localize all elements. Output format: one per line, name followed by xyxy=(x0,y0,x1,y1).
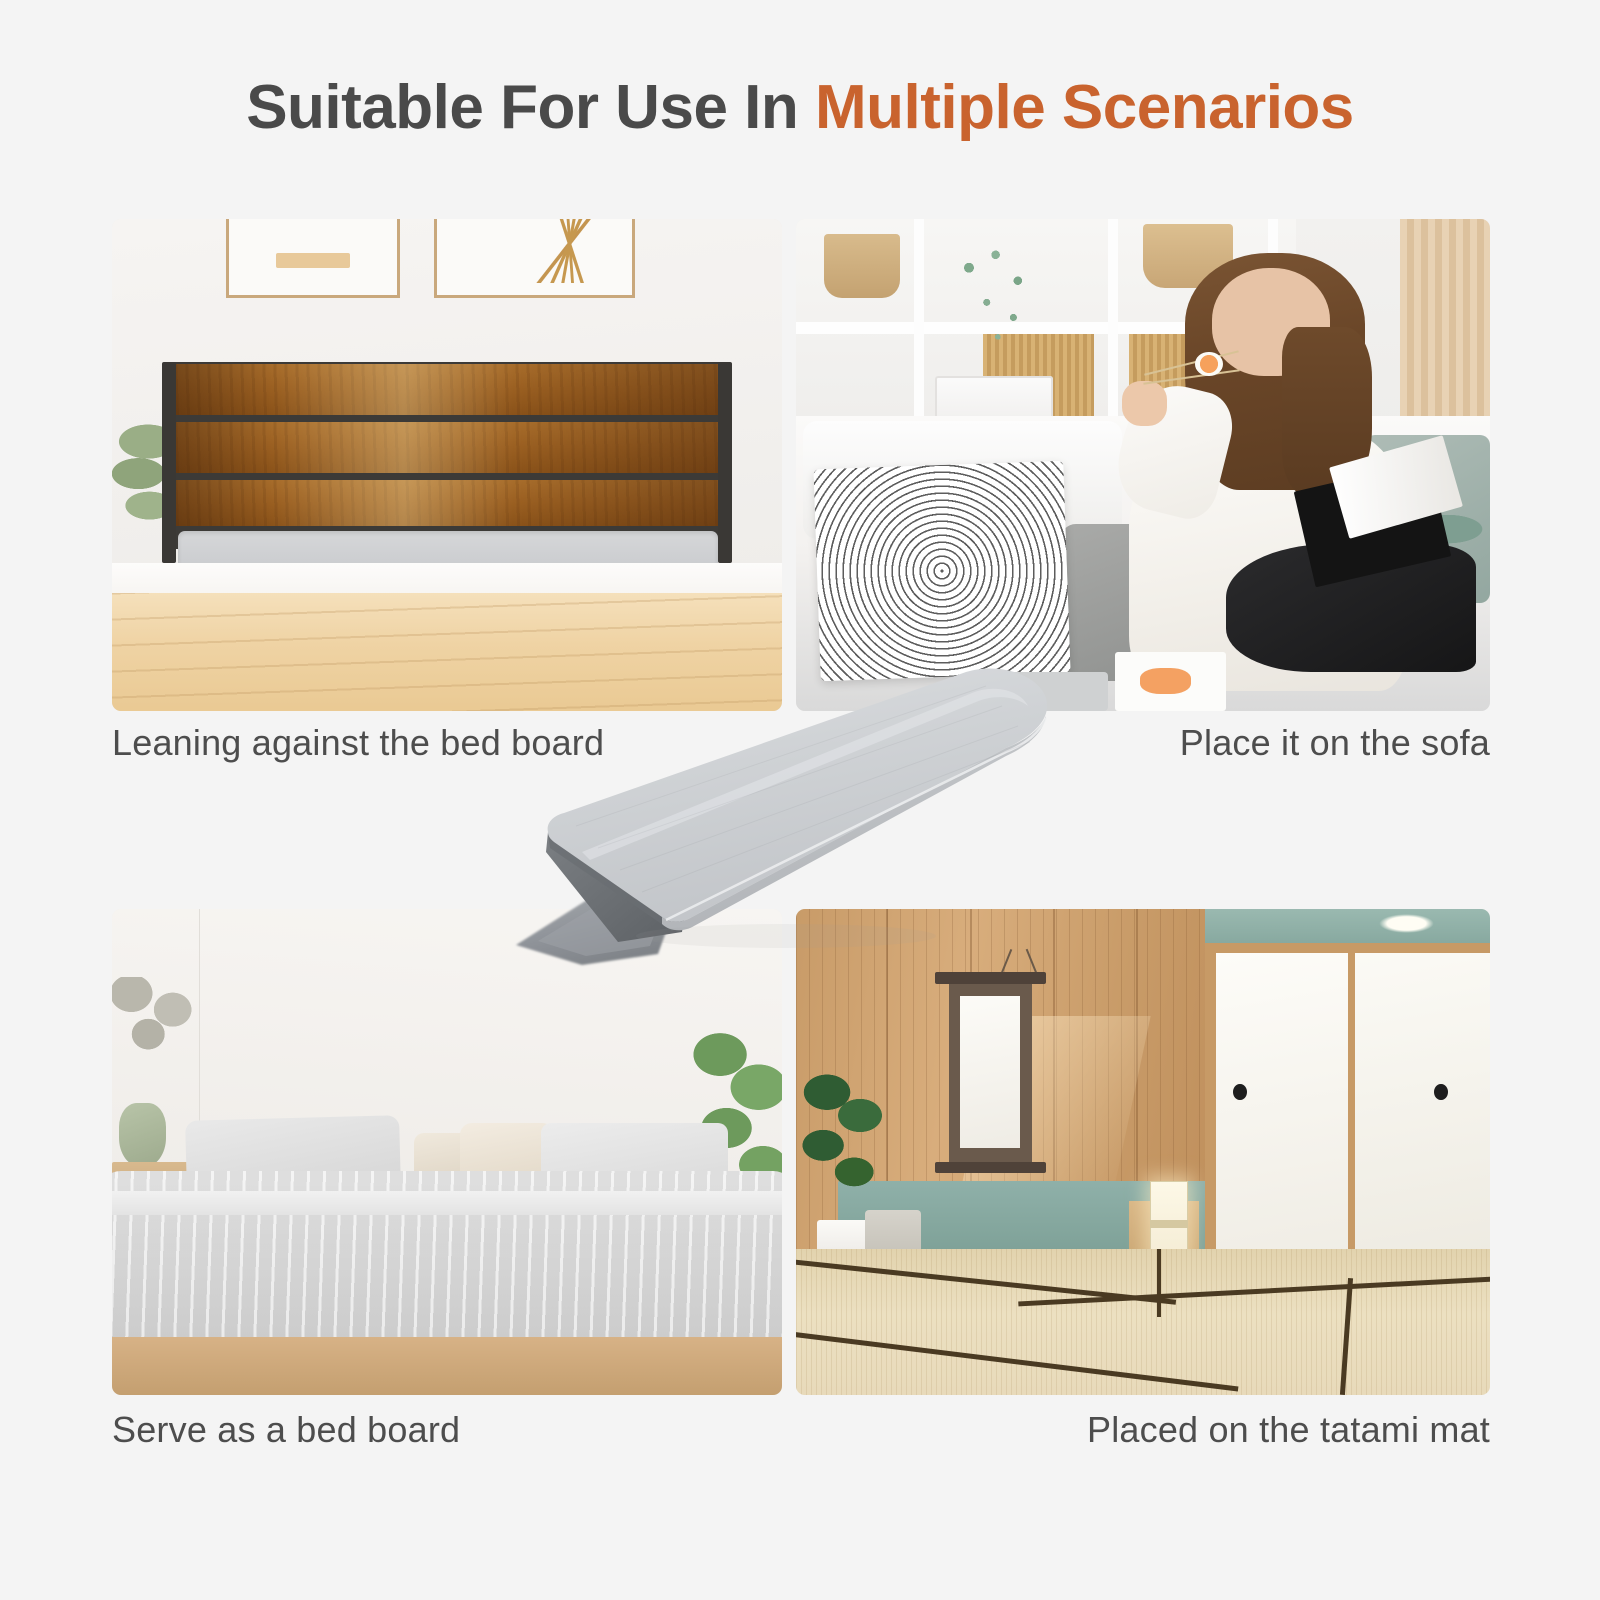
headboard-wood-plank xyxy=(176,480,719,526)
scenario-image-tatami xyxy=(796,909,1490,1395)
duvet-fold xyxy=(112,1191,782,1215)
headboard-wood-plank xyxy=(176,364,719,415)
scene-tatami-room xyxy=(796,909,1490,1395)
scenario-image-sofa xyxy=(796,219,1490,711)
caption-tatami: Placed on the tatami mat xyxy=(1087,1409,1490,1451)
tan-blanket xyxy=(112,593,782,711)
headboard-post-right xyxy=(718,362,732,564)
headboard-post-left xyxy=(162,362,176,564)
pillow-side-seam xyxy=(662,716,1046,930)
scene-living-room-sofa xyxy=(796,219,1490,711)
sushi-plate xyxy=(1115,652,1226,711)
wall-art-frame-right xyxy=(434,219,635,298)
woman-hand xyxy=(1122,381,1167,425)
shelf-divider xyxy=(1108,219,1118,435)
shoji-sliding-door xyxy=(1355,953,1490,1254)
woven-basket xyxy=(824,234,900,298)
scene-minimal-bedroom xyxy=(112,909,782,1395)
scenario-image-bed-board xyxy=(112,219,782,711)
scroll-rod-bottom xyxy=(935,1162,1046,1174)
wood-bed-platform xyxy=(112,1337,782,1395)
scene-bedroom-rustic xyxy=(112,219,782,711)
lantern-crossbar xyxy=(1150,1220,1188,1228)
hanging-scroll xyxy=(949,972,1032,1171)
headboard-wood-plank xyxy=(176,422,719,473)
caption-bed-board: Leaning against the bed board xyxy=(112,722,604,764)
page-title: Suitable For Use In Multiple Scenarios xyxy=(0,72,1600,143)
ceiling-light xyxy=(1379,914,1435,933)
pillow-fabric-texture xyxy=(576,686,1030,892)
caption-bed-board-serve: Serve as a bed board xyxy=(112,1409,460,1451)
sushi-piece xyxy=(1195,352,1223,377)
wall-art-frame-left xyxy=(226,219,400,298)
tatami-border xyxy=(1157,1249,1161,1317)
hanging-plant xyxy=(949,244,1060,352)
scenario-image-bed-board-serve xyxy=(112,909,782,1395)
infographic-page: Suitable For Use In Multiple Scenarios L… xyxy=(0,0,1600,1600)
palm-leaf-artwork xyxy=(526,219,616,283)
shelf-divider xyxy=(914,219,924,435)
diamond-pattern-pillow xyxy=(813,461,1070,681)
scroll-rod-top xyxy=(935,972,1046,984)
title-primary-text: Suitable For Use In xyxy=(246,73,798,142)
caption-sofa: Place it on the sofa xyxy=(1180,722,1490,764)
title-accent-text: Multiple Scenarios xyxy=(815,73,1354,142)
shoji-sliding-door xyxy=(1216,953,1348,1254)
ceramic-vase xyxy=(119,1103,166,1166)
tray xyxy=(970,672,1109,711)
teal-transom xyxy=(1205,909,1490,943)
dried-branches xyxy=(112,977,199,1113)
